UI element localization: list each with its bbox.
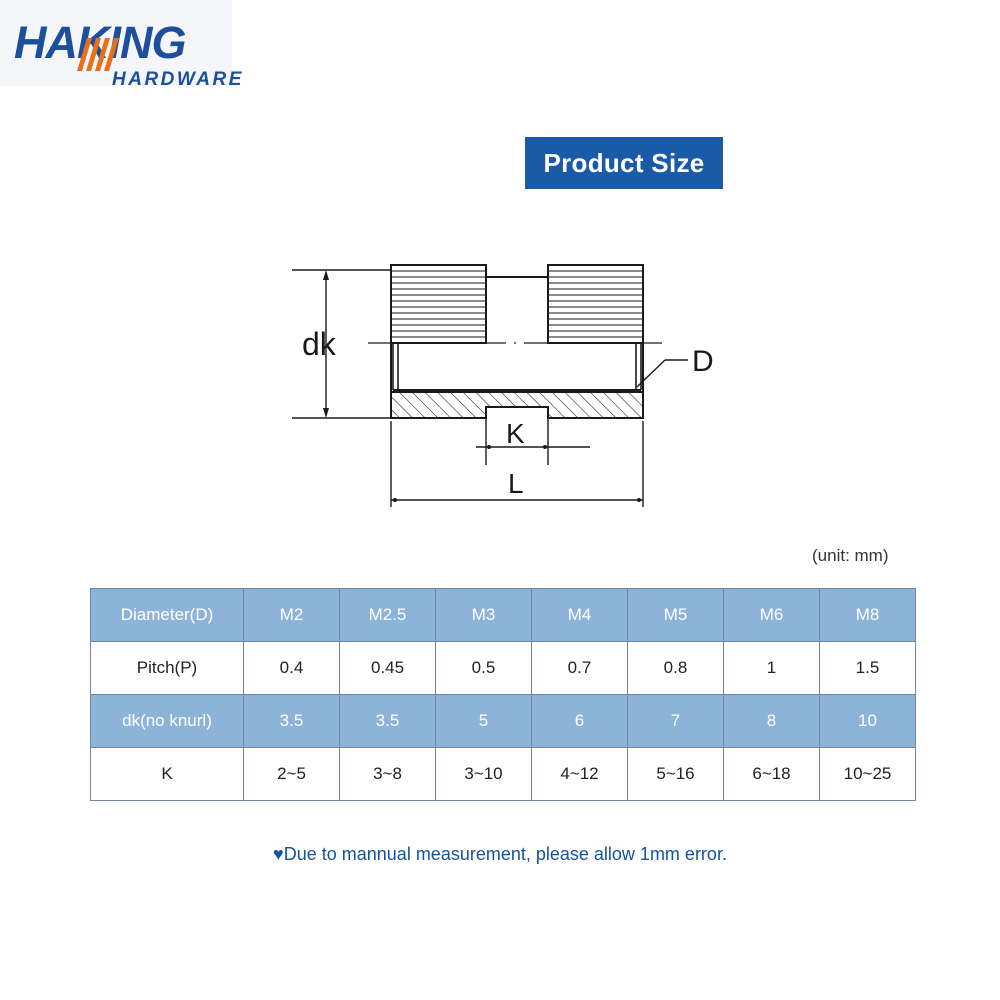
table-cell: M2 [244, 589, 340, 642]
logo-a-stripes-icon [67, 38, 119, 71]
table-cell: 3~8 [340, 748, 436, 801]
table-cell: 5 [436, 695, 532, 748]
dimension-label-D: D [692, 345, 714, 378]
table-row: Diameter(D) M2 M2.5 M3 M4 M5 M6 M8 [91, 589, 916, 642]
table-cell: 1.5 [820, 642, 916, 695]
table-cell: 3.5 [244, 695, 340, 748]
product-size-table: Diameter(D) M2 M2.5 M3 M4 M5 M6 M8 Pitch… [90, 588, 916, 801]
table-cell: 0.5 [436, 642, 532, 695]
dimension-label-K: K [506, 418, 525, 449]
table-cell: 3~10 [436, 748, 532, 801]
table-cell: 8 [724, 695, 820, 748]
table-cell: 0.4 [244, 642, 340, 695]
table-cell: M3 [436, 589, 532, 642]
table-cell: M8 [820, 589, 916, 642]
page-title: Product Size [543, 150, 704, 176]
dimension-label-L: L [508, 468, 524, 499]
table-cell: 6~18 [724, 748, 820, 801]
row-label: Pitch(P) [91, 642, 244, 695]
table-row: K 2~5 3~8 3~10 4~12 5~16 6~18 10~25 [91, 748, 916, 801]
table-row: Pitch(P) 0.4 0.45 0.5 0.7 0.8 1 1.5 [91, 642, 916, 695]
table-row: dk(no knurl) 3.5 3.5 5 6 7 8 10 [91, 695, 916, 748]
row-label: K [91, 748, 244, 801]
table-cell: 5~16 [628, 748, 724, 801]
dimension-label-dk: dk [302, 326, 337, 362]
table-cell: 6 [532, 695, 628, 748]
table-cell: 2~5 [244, 748, 340, 801]
table-cell: 0.45 [340, 642, 436, 695]
table-cell: 3.5 [340, 695, 436, 748]
table-cell: 10~25 [820, 748, 916, 801]
unit-note: (unit: mm) [812, 545, 889, 567]
table-cell: M5 [628, 589, 724, 642]
row-label: Diameter(D) [91, 589, 244, 642]
table-cell: M4 [532, 589, 628, 642]
product-dimension-drawing: dk D K L [280, 235, 730, 525]
brand-subtitle: HARDWARE [112, 70, 244, 90]
table-cell: 10 [820, 695, 916, 748]
table-cell: 7 [628, 695, 724, 748]
table-cell: M2.5 [340, 589, 436, 642]
table-cell: 1 [724, 642, 820, 695]
table-cell: 0.7 [532, 642, 628, 695]
brand-logo: HAKING HARDWARE [14, 18, 244, 88]
table-cell: 0.8 [628, 642, 724, 695]
measurement-disclaimer: ♥Due to mannual measurement, please allo… [0, 842, 1000, 866]
row-label: dk(no knurl) [91, 695, 244, 748]
product-size-banner: Product Size [525, 137, 723, 189]
table-cell: M6 [724, 589, 820, 642]
table-cell: 4~12 [532, 748, 628, 801]
